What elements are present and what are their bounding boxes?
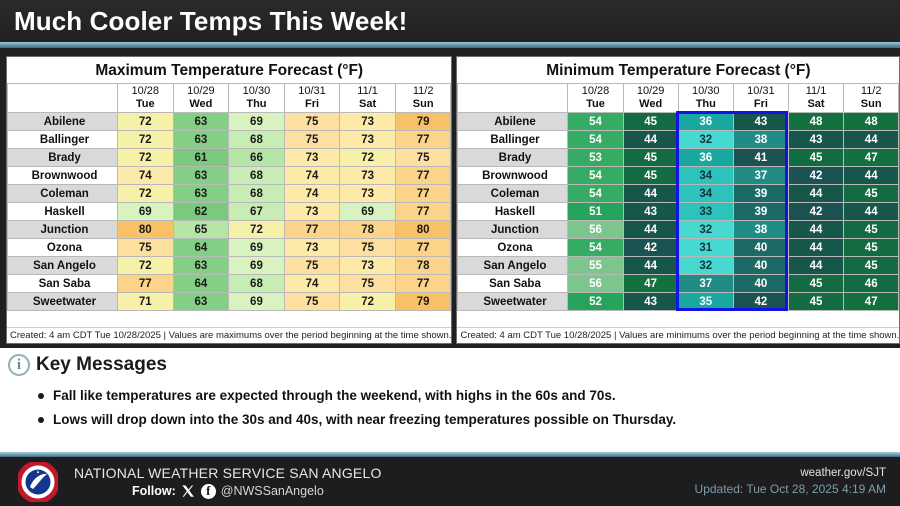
temperature-cell: 44 bbox=[623, 185, 678, 203]
temperature-cell: 72 bbox=[118, 113, 174, 131]
min-table-rows: Abilene544536434848Ballinger544432384344… bbox=[458, 113, 899, 311]
row-city-label: Sweetwater bbox=[8, 293, 118, 311]
temperature-cell: 54 bbox=[568, 131, 623, 149]
row-city-label: San Angelo bbox=[458, 257, 568, 275]
temperature-cell: 77 bbox=[284, 221, 340, 239]
temperature-cell: 42 bbox=[788, 167, 843, 185]
key-messages-panel: i Key Messages Fall like temperatures ar… bbox=[0, 348, 900, 452]
temperature-cell: 43 bbox=[733, 113, 788, 131]
min-table-body-wrap: 10/28Tue10/29Wed10/30Thu10/31Fri11/1Sat1… bbox=[457, 83, 899, 311]
temperature-cell: 68 bbox=[229, 185, 285, 203]
table-row: Coleman544434394445 bbox=[458, 185, 899, 203]
row-city-label: Brady bbox=[458, 149, 568, 167]
temperature-cell: 32 bbox=[678, 131, 733, 149]
table-row: Ballinger726368757377 bbox=[8, 131, 451, 149]
temperature-cell: 72 bbox=[340, 149, 396, 167]
page-title: Much Cooler Temps This Week! bbox=[14, 6, 407, 37]
column-header-date: 10/29 bbox=[624, 85, 678, 98]
column-header-day-wed: 10/29Wed bbox=[173, 84, 229, 113]
temperature-cell: 72 bbox=[229, 221, 285, 239]
temperature-cell: 54 bbox=[568, 113, 623, 131]
row-city-label: Coleman bbox=[458, 185, 568, 203]
column-header-date: 10/28 bbox=[118, 85, 173, 98]
temperature-cell: 69 bbox=[229, 113, 285, 131]
temperature-cell: 75 bbox=[284, 131, 340, 149]
temperature-cell: 34 bbox=[678, 185, 733, 203]
temperature-cell: 72 bbox=[118, 185, 174, 203]
temperature-cell: 38 bbox=[733, 131, 788, 149]
temperature-cell: 77 bbox=[395, 185, 451, 203]
temperature-cell: 43 bbox=[788, 131, 843, 149]
temperature-cell: 63 bbox=[173, 167, 229, 185]
column-header-weekday: Wed bbox=[624, 98, 678, 111]
column-header-weekday: Thu bbox=[229, 98, 284, 111]
temperature-cell: 63 bbox=[173, 185, 229, 203]
temperature-cell: 73 bbox=[340, 167, 396, 185]
row-city-label: Junction bbox=[8, 221, 118, 239]
temperature-cell: 77 bbox=[395, 131, 451, 149]
column-header-day-fri: 10/31Fri bbox=[733, 84, 788, 113]
table-row: Sweetwater524335424547 bbox=[458, 293, 899, 311]
temperature-cell: 68 bbox=[229, 275, 285, 293]
column-header-date: 10/28 bbox=[568, 85, 622, 98]
temperature-cell: 72 bbox=[118, 131, 174, 149]
max-temperature-table-card: Maximum Temperature Forecast (°F) 10/28T… bbox=[6, 56, 452, 344]
temperature-cell: 69 bbox=[118, 203, 174, 221]
facebook-icon[interactable]: f bbox=[201, 484, 216, 499]
temperature-cell: 38 bbox=[733, 221, 788, 239]
row-city-label: Ozona bbox=[458, 239, 568, 257]
temperature-cell: 64 bbox=[173, 239, 229, 257]
temperature-cell: 66 bbox=[229, 149, 285, 167]
footer-updated-timestamp: Updated: Tue Oct 28, 2025 4:19 AM bbox=[695, 482, 886, 496]
temperature-cell: 45 bbox=[844, 221, 899, 239]
temperature-cell: 40 bbox=[733, 239, 788, 257]
temperature-cell: 46 bbox=[844, 275, 899, 293]
temperature-cell: 53 bbox=[568, 149, 623, 167]
temperature-cell: 73 bbox=[340, 185, 396, 203]
temperature-cell: 43 bbox=[623, 203, 678, 221]
table-row: Abilene726369757379 bbox=[8, 113, 451, 131]
temperature-cell: 43 bbox=[623, 293, 678, 311]
temperature-cell: 69 bbox=[229, 239, 285, 257]
temperature-cell: 37 bbox=[733, 167, 788, 185]
temperature-cell: 40 bbox=[733, 257, 788, 275]
column-header-day-sat: 11/1Sat bbox=[340, 84, 396, 113]
temperature-cell: 73 bbox=[284, 149, 340, 167]
temperature-cell: 32 bbox=[678, 257, 733, 275]
temperature-cell: 75 bbox=[284, 257, 340, 275]
noaa-nws-seal-logo bbox=[18, 462, 58, 502]
column-header-day-sun: 11/2Sun bbox=[844, 84, 899, 113]
key-message-item: Fall like temperatures are expected thro… bbox=[38, 384, 900, 408]
key-message-item: Lows will drop down into the 30s and 40s… bbox=[38, 408, 900, 432]
table-row: Ozona756469737577 bbox=[8, 239, 451, 257]
temperature-cell: 45 bbox=[844, 239, 899, 257]
temperature-cell: 37 bbox=[678, 275, 733, 293]
header-accent-divider bbox=[0, 42, 900, 48]
temperature-cell: 63 bbox=[173, 257, 229, 275]
temperature-cell: 65 bbox=[173, 221, 229, 239]
title-bar: Much Cooler Temps This Week! bbox=[0, 0, 900, 42]
row-city-label: Ozona bbox=[8, 239, 118, 257]
max-temperature-table: 10/28Tue10/29Wed10/30Thu10/31Fri11/1Sat1… bbox=[7, 83, 451, 311]
temperature-cell: 75 bbox=[284, 293, 340, 311]
table-row: Ozona544231404445 bbox=[458, 239, 899, 257]
row-city-label: Brownwood bbox=[8, 167, 118, 185]
column-header-date: 11/2 bbox=[844, 85, 898, 98]
temperature-cell: 44 bbox=[623, 131, 678, 149]
max-table-title: Maximum Temperature Forecast (°F) bbox=[7, 57, 451, 83]
column-header-day-sun: 11/2Sun bbox=[395, 84, 451, 113]
row-city-label: Junction bbox=[458, 221, 568, 239]
temperature-cell: 41 bbox=[733, 149, 788, 167]
column-header-day-fri: 10/31Fri bbox=[284, 84, 340, 113]
column-header-weekday: Sat bbox=[340, 98, 395, 111]
temperature-cell: 80 bbox=[395, 221, 451, 239]
temperature-cell: 44 bbox=[788, 221, 843, 239]
temperature-cell: 48 bbox=[788, 113, 843, 131]
max-table-rows: Abilene726369757379Ballinger726368757377… bbox=[8, 113, 451, 311]
column-header-day-sat: 11/1Sat bbox=[788, 84, 843, 113]
header-city-column bbox=[8, 84, 118, 113]
temperature-cell: 39 bbox=[733, 203, 788, 221]
row-city-label: Abilene bbox=[8, 113, 118, 131]
temperature-cell: 68 bbox=[229, 131, 285, 149]
temperature-cell: 67 bbox=[229, 203, 285, 221]
temperature-cell: 54 bbox=[568, 185, 623, 203]
temperature-cell: 55 bbox=[568, 257, 623, 275]
temperature-cell: 45 bbox=[788, 275, 843, 293]
temperature-cell: 45 bbox=[844, 185, 899, 203]
column-header-day-thu: 10/30Thu bbox=[229, 84, 285, 113]
min-table-title: Minimum Temperature Forecast (°F) bbox=[457, 57, 899, 83]
temperature-cell: 77 bbox=[395, 275, 451, 293]
key-messages-title: Key Messages bbox=[36, 354, 167, 376]
table-row: San Saba564737404546 bbox=[458, 275, 899, 293]
column-header-date: 10/30 bbox=[229, 85, 284, 98]
temperature-cell: 56 bbox=[568, 275, 623, 293]
temperature-cell: 44 bbox=[623, 221, 678, 239]
column-header-date: 10/29 bbox=[174, 85, 229, 98]
temperature-cell: 74 bbox=[284, 185, 340, 203]
temperature-cell: 42 bbox=[733, 293, 788, 311]
temperature-cell: 48 bbox=[844, 113, 899, 131]
temperature-cell: 42 bbox=[623, 239, 678, 257]
min-temperature-table-card: Minimum Temperature Forecast (°F) 10/28T… bbox=[456, 56, 900, 344]
temperature-cell: 63 bbox=[173, 113, 229, 131]
temperature-cell: 72 bbox=[118, 149, 174, 167]
info-icon: i bbox=[8, 354, 30, 376]
temperature-cell: 44 bbox=[844, 131, 899, 149]
footer-right-block: weather.gov/SJT Updated: Tue Oct 28, 202… bbox=[695, 467, 886, 496]
row-city-label: Haskell bbox=[8, 203, 118, 221]
table-row: Haskell696267736977 bbox=[8, 203, 451, 221]
temperature-cell: 74 bbox=[284, 167, 340, 185]
temperature-cell: 74 bbox=[118, 167, 174, 185]
temperature-cell: 45 bbox=[623, 113, 678, 131]
row-city-label: Ballinger bbox=[8, 131, 118, 149]
min-header-row: 10/28Tue10/29Wed10/30Thu10/31Fri11/1Sat1… bbox=[458, 84, 899, 113]
max-table-head: 10/28Tue10/29Wed10/30Thu10/31Fri11/1Sat1… bbox=[8, 84, 451, 113]
column-header-weekday: Fri bbox=[285, 98, 340, 111]
column-header-date: 11/1 bbox=[340, 85, 395, 98]
temperature-cell: 69 bbox=[340, 203, 396, 221]
column-header-day-tue: 10/28Tue bbox=[568, 84, 623, 113]
table-row: Sweetwater716369757279 bbox=[8, 293, 451, 311]
temperature-cell: 44 bbox=[844, 167, 899, 185]
temperature-cell: 54 bbox=[568, 239, 623, 257]
table-row: Junction806572777880 bbox=[8, 221, 451, 239]
column-header-weekday: Wed bbox=[174, 98, 229, 111]
temperature-cell: 68 bbox=[229, 167, 285, 185]
column-header-day-thu: 10/30Thu bbox=[678, 84, 733, 113]
temperature-cell: 45 bbox=[788, 149, 843, 167]
follow-label: Follow: bbox=[132, 484, 176, 498]
temperature-cell: 31 bbox=[678, 239, 733, 257]
temperature-cell: 73 bbox=[284, 239, 340, 257]
temperature-cell: 74 bbox=[284, 275, 340, 293]
min-table-head: 10/28Tue10/29Wed10/30Thu10/31Fri11/1Sat1… bbox=[458, 84, 899, 113]
key-messages-list: Fall like temperatures are expected thro… bbox=[38, 384, 900, 432]
row-city-label: Brady bbox=[8, 149, 118, 167]
column-header-date: 11/2 bbox=[396, 85, 451, 98]
column-header-date: 10/30 bbox=[679, 85, 733, 98]
table-row: San Angelo726369757378 bbox=[8, 257, 451, 275]
temperature-cell: 71 bbox=[118, 293, 174, 311]
row-city-label: San Angelo bbox=[8, 257, 118, 275]
temperature-cell: 77 bbox=[395, 167, 451, 185]
table-row: Abilene544536434848 bbox=[458, 113, 899, 131]
bullet-icon bbox=[38, 417, 44, 423]
temperature-cell: 77 bbox=[395, 239, 451, 257]
temperature-cell: 77 bbox=[395, 203, 451, 221]
temperature-cell: 54 bbox=[568, 167, 623, 185]
temperature-cell: 78 bbox=[395, 257, 451, 275]
column-header-weekday: Thu bbox=[679, 98, 733, 111]
column-header-day-wed: 10/29Wed bbox=[623, 84, 678, 113]
temperature-cell: 73 bbox=[340, 131, 396, 149]
table-row: Haskell514333394244 bbox=[458, 203, 899, 221]
table-row: San Angelo554432404445 bbox=[458, 257, 899, 275]
temperature-cell: 36 bbox=[678, 113, 733, 131]
temperature-cell: 44 bbox=[788, 185, 843, 203]
infographic-page: Much Cooler Temps This Week! Maximum Tem… bbox=[0, 0, 900, 506]
footer-bar: NATIONAL WEATHER SERVICE SAN ANGELO Foll… bbox=[0, 457, 900, 506]
max-table-footnote: Created: 4 am CDT Tue 10/28/2025 | Value… bbox=[7, 327, 451, 343]
temperature-cell: 45 bbox=[623, 167, 678, 185]
temperature-cell: 61 bbox=[173, 149, 229, 167]
temperature-cell: 44 bbox=[788, 257, 843, 275]
column-header-weekday: Fri bbox=[734, 98, 788, 111]
table-row: Brady726166737275 bbox=[8, 149, 451, 167]
temperature-cell: 77 bbox=[118, 275, 174, 293]
temperature-cell: 64 bbox=[173, 275, 229, 293]
temperature-cell: 44 bbox=[788, 239, 843, 257]
key-message-text: Fall like temperatures are expected thro… bbox=[53, 384, 616, 408]
temperature-cell: 75 bbox=[284, 113, 340, 131]
row-city-label: Coleman bbox=[8, 185, 118, 203]
temperature-cell: 36 bbox=[678, 149, 733, 167]
table-row: San Saba776468747577 bbox=[8, 275, 451, 293]
row-city-label: San Saba bbox=[458, 275, 568, 293]
column-header-weekday: Sun bbox=[844, 98, 898, 111]
footer-website-link[interactable]: weather.gov/SJT bbox=[695, 467, 886, 479]
table-row: Ballinger544432384344 bbox=[458, 131, 899, 149]
temperature-cell: 45 bbox=[844, 257, 899, 275]
temperature-cell: 45 bbox=[788, 293, 843, 311]
column-header-weekday: Sat bbox=[789, 98, 843, 111]
temperature-cell: 78 bbox=[340, 221, 396, 239]
temperature-cell: 33 bbox=[678, 203, 733, 221]
footer-social-handle[interactable]: @NWSSanAngelo bbox=[221, 484, 324, 498]
temperature-cell: 52 bbox=[568, 293, 623, 311]
row-city-label: Sweetwater bbox=[458, 293, 568, 311]
row-city-label: Brownwood bbox=[458, 167, 568, 185]
column-header-date: 10/31 bbox=[285, 85, 340, 98]
column-header-weekday: Tue bbox=[118, 98, 173, 111]
temperature-cell: 63 bbox=[173, 293, 229, 311]
temperature-cell: 39 bbox=[733, 185, 788, 203]
temperature-cell: 69 bbox=[229, 257, 285, 275]
table-row: Brownwood544534374244 bbox=[458, 167, 899, 185]
column-header-date: 11/1 bbox=[789, 85, 843, 98]
temperature-cell: 40 bbox=[733, 275, 788, 293]
temperature-cell: 47 bbox=[844, 149, 899, 167]
footer-organization: NATIONAL WEATHER SERVICE SAN ANGELO bbox=[74, 465, 382, 481]
temperature-cell: 73 bbox=[284, 203, 340, 221]
x-twitter-icon[interactable] bbox=[181, 484, 196, 499]
temperature-cell: 63 bbox=[173, 131, 229, 149]
forecast-tables-container: Maximum Temperature Forecast (°F) 10/28T… bbox=[0, 52, 900, 344]
table-row: Coleman726368747377 bbox=[8, 185, 451, 203]
key-message-text: Lows will drop down into the 30s and 40s… bbox=[53, 408, 676, 432]
temperature-cell: 56 bbox=[568, 221, 623, 239]
footer-follow-row: Follow: f @NWSSanAngelo bbox=[132, 484, 382, 499]
temperature-cell: 75 bbox=[118, 239, 174, 257]
temperature-cell: 62 bbox=[173, 203, 229, 221]
temperature-cell: 73 bbox=[340, 257, 396, 275]
row-city-label: San Saba bbox=[8, 275, 118, 293]
footer-organization-block: NATIONAL WEATHER SERVICE SAN ANGELO Foll… bbox=[74, 465, 382, 499]
table-row: Junction564432384445 bbox=[458, 221, 899, 239]
temperature-cell: 47 bbox=[623, 275, 678, 293]
temperature-cell: 44 bbox=[623, 257, 678, 275]
temperature-cell: 34 bbox=[678, 167, 733, 185]
temperature-cell: 72 bbox=[118, 257, 174, 275]
row-city-label: Abilene bbox=[458, 113, 568, 131]
header-city-column bbox=[458, 84, 568, 113]
bullet-icon bbox=[38, 393, 44, 399]
temperature-cell: 47 bbox=[844, 293, 899, 311]
temperature-cell: 79 bbox=[395, 293, 451, 311]
temperature-cell: 45 bbox=[623, 149, 678, 167]
row-city-label: Haskell bbox=[458, 203, 568, 221]
min-temperature-table: 10/28Tue10/29Wed10/30Thu10/31Fri11/1Sat1… bbox=[457, 83, 899, 311]
temperature-cell: 69 bbox=[229, 293, 285, 311]
temperature-cell: 73 bbox=[340, 113, 396, 131]
temperature-cell: 35 bbox=[678, 293, 733, 311]
temperature-cell: 72 bbox=[340, 293, 396, 311]
column-header-date: 10/31 bbox=[734, 85, 788, 98]
key-messages-header: i Key Messages bbox=[8, 354, 900, 376]
max-header-row: 10/28Tue10/29Wed10/30Thu10/31Fri11/1Sat1… bbox=[8, 84, 451, 113]
table-row: Brownwood746368747377 bbox=[8, 167, 451, 185]
temperature-cell: 80 bbox=[118, 221, 174, 239]
temperature-cell: 75 bbox=[340, 239, 396, 257]
column-header-weekday: Tue bbox=[568, 98, 622, 111]
column-header-weekday: Sun bbox=[396, 98, 451, 111]
temperature-cell: 75 bbox=[395, 149, 451, 167]
temperature-cell: 51 bbox=[568, 203, 623, 221]
max-table-body-wrap: 10/28Tue10/29Wed10/30Thu10/31Fri11/1Sat1… bbox=[7, 83, 451, 311]
temperature-cell: 75 bbox=[340, 275, 396, 293]
temperature-cell: 79 bbox=[395, 113, 451, 131]
table-row: Brady534536414547 bbox=[458, 149, 899, 167]
row-city-label: Ballinger bbox=[458, 131, 568, 149]
temperature-cell: 44 bbox=[844, 203, 899, 221]
min-table-footnote: Created: 4 am CDT Tue 10/28/2025 | Value… bbox=[457, 327, 899, 343]
temperature-cell: 32 bbox=[678, 221, 733, 239]
column-header-day-tue: 10/28Tue bbox=[118, 84, 174, 113]
temperature-cell: 42 bbox=[788, 203, 843, 221]
